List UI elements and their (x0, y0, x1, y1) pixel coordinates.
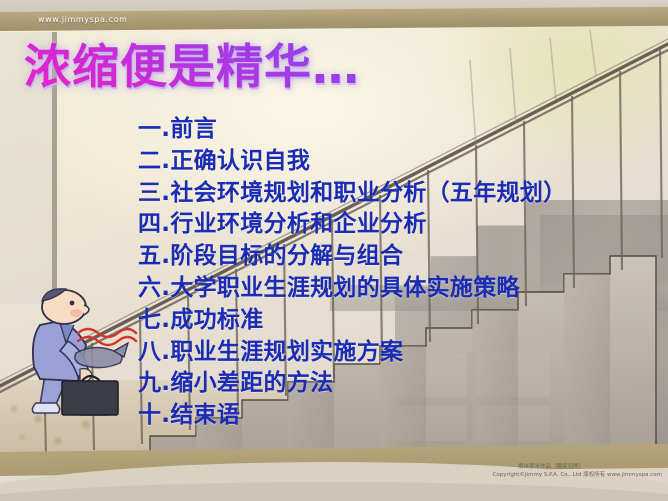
agenda-item[interactable]: 九.缩小差距的方法 (138, 368, 658, 400)
agenda-item[interactable]: 八.职业生涯规划实施方案 (138, 337, 658, 369)
slide-title: 浓缩便是精华… (24, 41, 360, 95)
agenda-item[interactable]: 七.成功标准 (138, 305, 658, 337)
copyright-notice: 摘自豪米作品（趣笑羽熊） Copyright©Jimmy S.P.A. Co.,… (493, 463, 662, 479)
agenda-item[interactable]: 四.行业环境分析和企业分析 (138, 209, 658, 241)
agenda-item[interactable]: 二.正确认识自我 (138, 146, 658, 178)
agenda-item[interactable]: 一.前言 (138, 114, 658, 146)
agenda-item[interactable]: 五.阶段目标的分解与组合 (138, 241, 658, 273)
agenda-item[interactable]: 六.大学职业生涯规划的具体实施策略 (138, 273, 658, 305)
agenda-list: 一.前言 二.正确认识自我 三.社会环境规划和职业分析（五年规划） 四.行业环境… (138, 114, 658, 432)
agenda-item[interactable]: 十.结束语 (138, 400, 658, 432)
watermark-url: www.jimmyspa.com (38, 15, 128, 24)
cartoon-businessman (16, 285, 151, 435)
presentation-slide: www.jimmyspa.com 浓缩便是精华… 一.前言 二.正确认识自我 三… (0, 0, 668, 501)
copyright-line-1: 摘自豪米作品（趣笑羽熊） (493, 463, 584, 471)
copyright-line-2: Copyright©Jimmy S.P.A. Co., Ltd 版权所有 www… (493, 471, 662, 479)
agenda-item[interactable]: 三.社会环境规划和职业分析（五年规划） (138, 178, 658, 210)
